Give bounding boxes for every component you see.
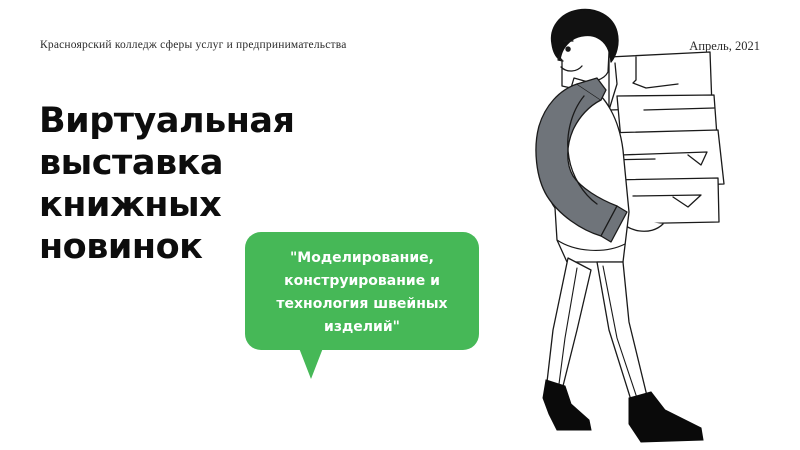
page-title-line-1: Виртуальная xyxy=(39,100,339,142)
presentation-slide: Красноярский колледж сферы услуг и предп… xyxy=(0,0,800,450)
speech-bubble: "Моделирование, конструирование и технол… xyxy=(245,232,479,350)
speech-bubble-line-3: технология швейных xyxy=(276,293,447,316)
speech-bubble-line-1: "Моделирование, xyxy=(290,247,434,270)
organization-name: Красноярский колледж сферы услуг и предп… xyxy=(40,39,347,51)
page-title-line-3: книжных xyxy=(39,184,339,226)
page-title-line-2: выставка xyxy=(39,142,339,184)
man-carrying-books-icon xyxy=(505,0,800,450)
speech-bubble-line-2: конструирование и xyxy=(284,270,440,293)
illustration-man-carrying-books xyxy=(505,0,800,450)
speech-bubble-tail xyxy=(299,348,323,379)
speech-bubble-line-4: изделий" xyxy=(324,316,400,339)
